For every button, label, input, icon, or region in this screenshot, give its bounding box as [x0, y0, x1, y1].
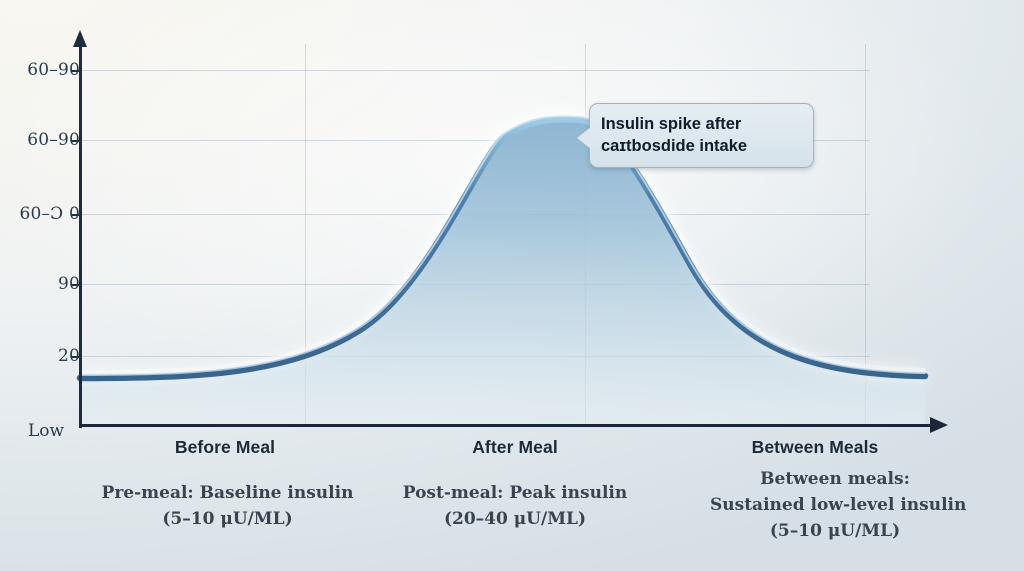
- caption-before-meal: Pre-meal: Baseline insulin (5–10 μU/ML): [95, 480, 360, 532]
- caption-after-line2: (20–40 μU/ML): [390, 506, 640, 532]
- x-category-between-meals: Between Meals: [700, 437, 930, 458]
- y-tick-label-3: 60–Ɔ 0: [19, 204, 80, 224]
- x-axis-line: [80, 424, 932, 427]
- callout-tail-icon: [577, 127, 591, 149]
- caption-between-meals: Between meals: Sustained low-level insul…: [710, 466, 960, 544]
- x-category-after-meal: After Meal: [400, 437, 630, 458]
- y-tick-label-2: 60–90: [27, 130, 80, 150]
- insulin-spike-callout: Insulin spike after caɪtbosdide intake: [589, 103, 814, 168]
- chart-canvas: 60–90 60–90 60–Ɔ 0 90 20 Low Before Meal…: [0, 0, 1024, 571]
- x-category-before-meal: Before Meal: [110, 437, 340, 458]
- caption-after-meal: Post-meal: Peak insulin (20–40 μU/ML): [390, 480, 640, 532]
- caption-before-line2: (5–10 μU/ML): [95, 506, 360, 532]
- caption-after-line1: Post-meal: Peak insulin: [390, 480, 640, 506]
- callout-line2: caɪtbosdide intake: [601, 135, 802, 157]
- y-tick-label-4: 90: [58, 274, 80, 294]
- y-tick-label-5: 20: [58, 346, 80, 366]
- x-axis-arrow-icon: [930, 417, 948, 433]
- y-axis-origin-label: Low: [28, 421, 64, 441]
- caption-before-line1: Pre-meal: Baseline insulin: [95, 480, 360, 506]
- insulin-curve-svg: [80, 44, 940, 430]
- y-tick-label-1: 60–90: [27, 60, 80, 80]
- caption-between-line1: Between meals:: [710, 466, 960, 492]
- callout-line1: Insulin spike after: [601, 113, 802, 135]
- caption-between-line3: (5–10 μU/ML): [710, 518, 960, 544]
- insulin-curve-area: [80, 44, 932, 426]
- y-axis-labels: 60–90 60–90 60–Ɔ 0 90 20: [10, 44, 80, 426]
- caption-between-line2: Sustained low-level insulin: [710, 492, 960, 518]
